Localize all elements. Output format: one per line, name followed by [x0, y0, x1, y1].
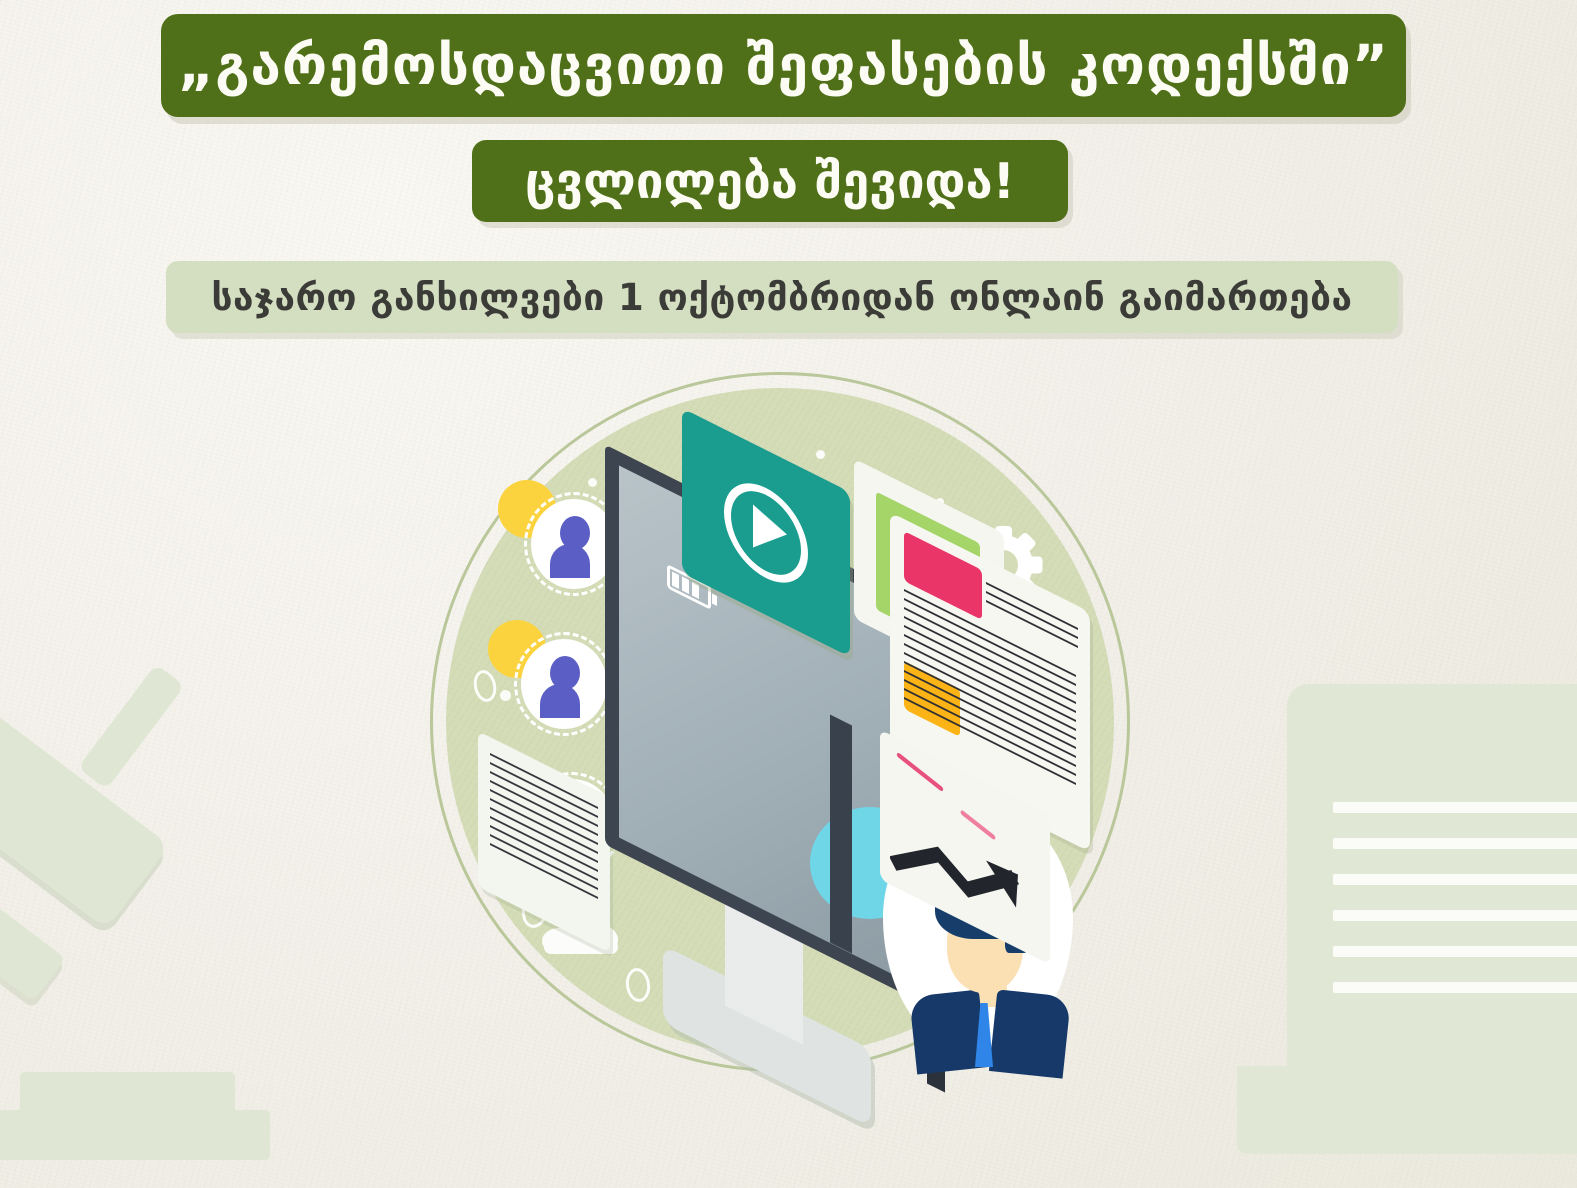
participant-avatar[interactable]	[488, 620, 616, 738]
gavel-watermark	[0, 700, 320, 1000]
gavel-block-bottom	[0, 1110, 270, 1160]
user-body-icon	[540, 684, 580, 718]
presenter-jacket-left	[909, 990, 987, 1075]
subtitle-banner: ცვლილება შევიდა!	[472, 140, 1068, 222]
document-watermark-corner	[1237, 1066, 1327, 1154]
gavel-cap-right	[78, 664, 185, 789]
subtitle-text: ცვლილება შევიდა!	[525, 157, 1015, 206]
illustration	[430, 372, 1130, 1072]
note-text: საჯარო განხილვები 1 ოქტომბრიდან ონლაინ გ…	[211, 279, 1352, 316]
document-watermark	[1287, 684, 1577, 1154]
title-text: „გარემოსდაცვითი შეფასების კოდექსში”	[178, 38, 1389, 93]
monitor-edge-stripe	[830, 715, 852, 954]
user-body-icon	[550, 544, 590, 578]
play-icon[interactable]	[724, 467, 808, 599]
document-watermark-lines	[1333, 802, 1577, 1018]
gavel-head	[0, 710, 170, 929]
note-banner: საჯარო განხილვები 1 ოქტომბრიდან ონლაინ გ…	[166, 261, 1398, 333]
deco-dot-icon	[816, 450, 825, 459]
chart-dash-pink	[896, 752, 944, 792]
title-banner: „გარემოსდაცვითი შეფასების კოდექსში”	[161, 14, 1406, 117]
presenter-jacket-right	[989, 989, 1071, 1078]
